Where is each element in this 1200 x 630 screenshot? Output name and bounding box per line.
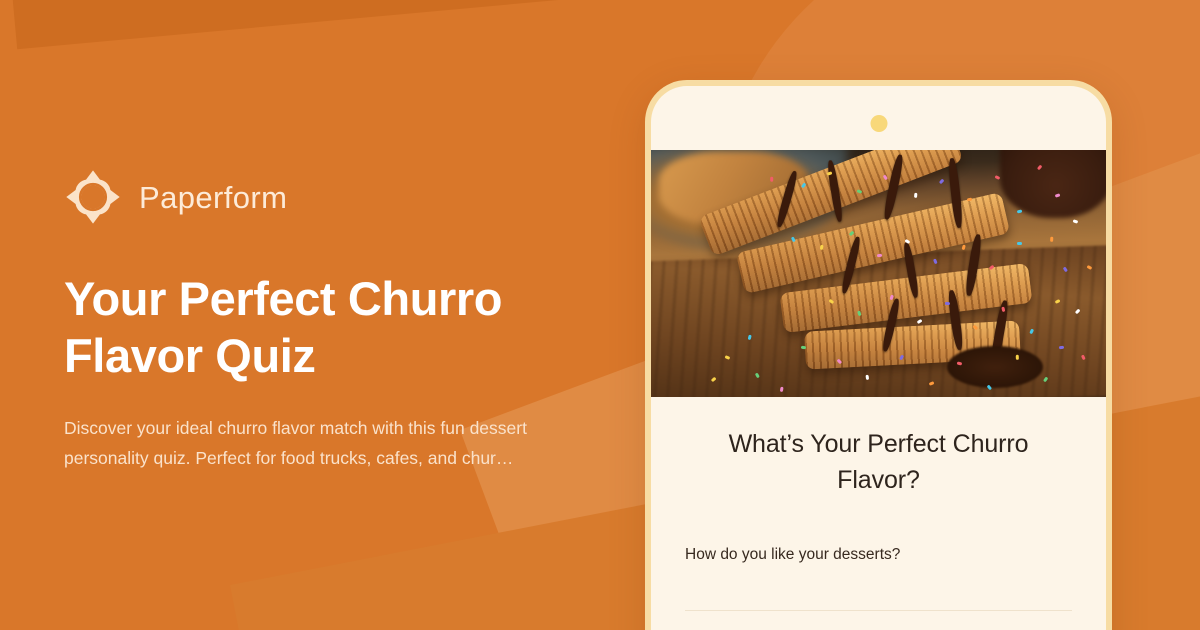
phone-mockup: What’s Your Perfect Churro Flavor? How d… bbox=[645, 80, 1112, 630]
form-question-1: How do you like your desserts? bbox=[685, 544, 1072, 566]
form-title: What’s Your Perfect Churro Flavor? bbox=[685, 427, 1072, 498]
paperform-petal-logo-icon bbox=[64, 168, 122, 226]
form-body: What’s Your Perfect Churro Flavor? How d… bbox=[651, 397, 1106, 611]
phone-notch bbox=[651, 86, 1106, 150]
form-divider bbox=[685, 610, 1072, 611]
hero-content: Paperform Your Perfect Churro Flavor Qui… bbox=[64, 168, 584, 473]
brand-lockup[interactable]: Paperform bbox=[64, 168, 584, 226]
brand-name: Paperform bbox=[139, 182, 287, 213]
front-camera-icon bbox=[870, 115, 887, 132]
page-title: Your Perfect Churro Flavor Quiz bbox=[64, 270, 564, 385]
form-cover-photo bbox=[651, 150, 1106, 397]
hero-description: Discover your ideal churro flavor match … bbox=[64, 413, 554, 474]
